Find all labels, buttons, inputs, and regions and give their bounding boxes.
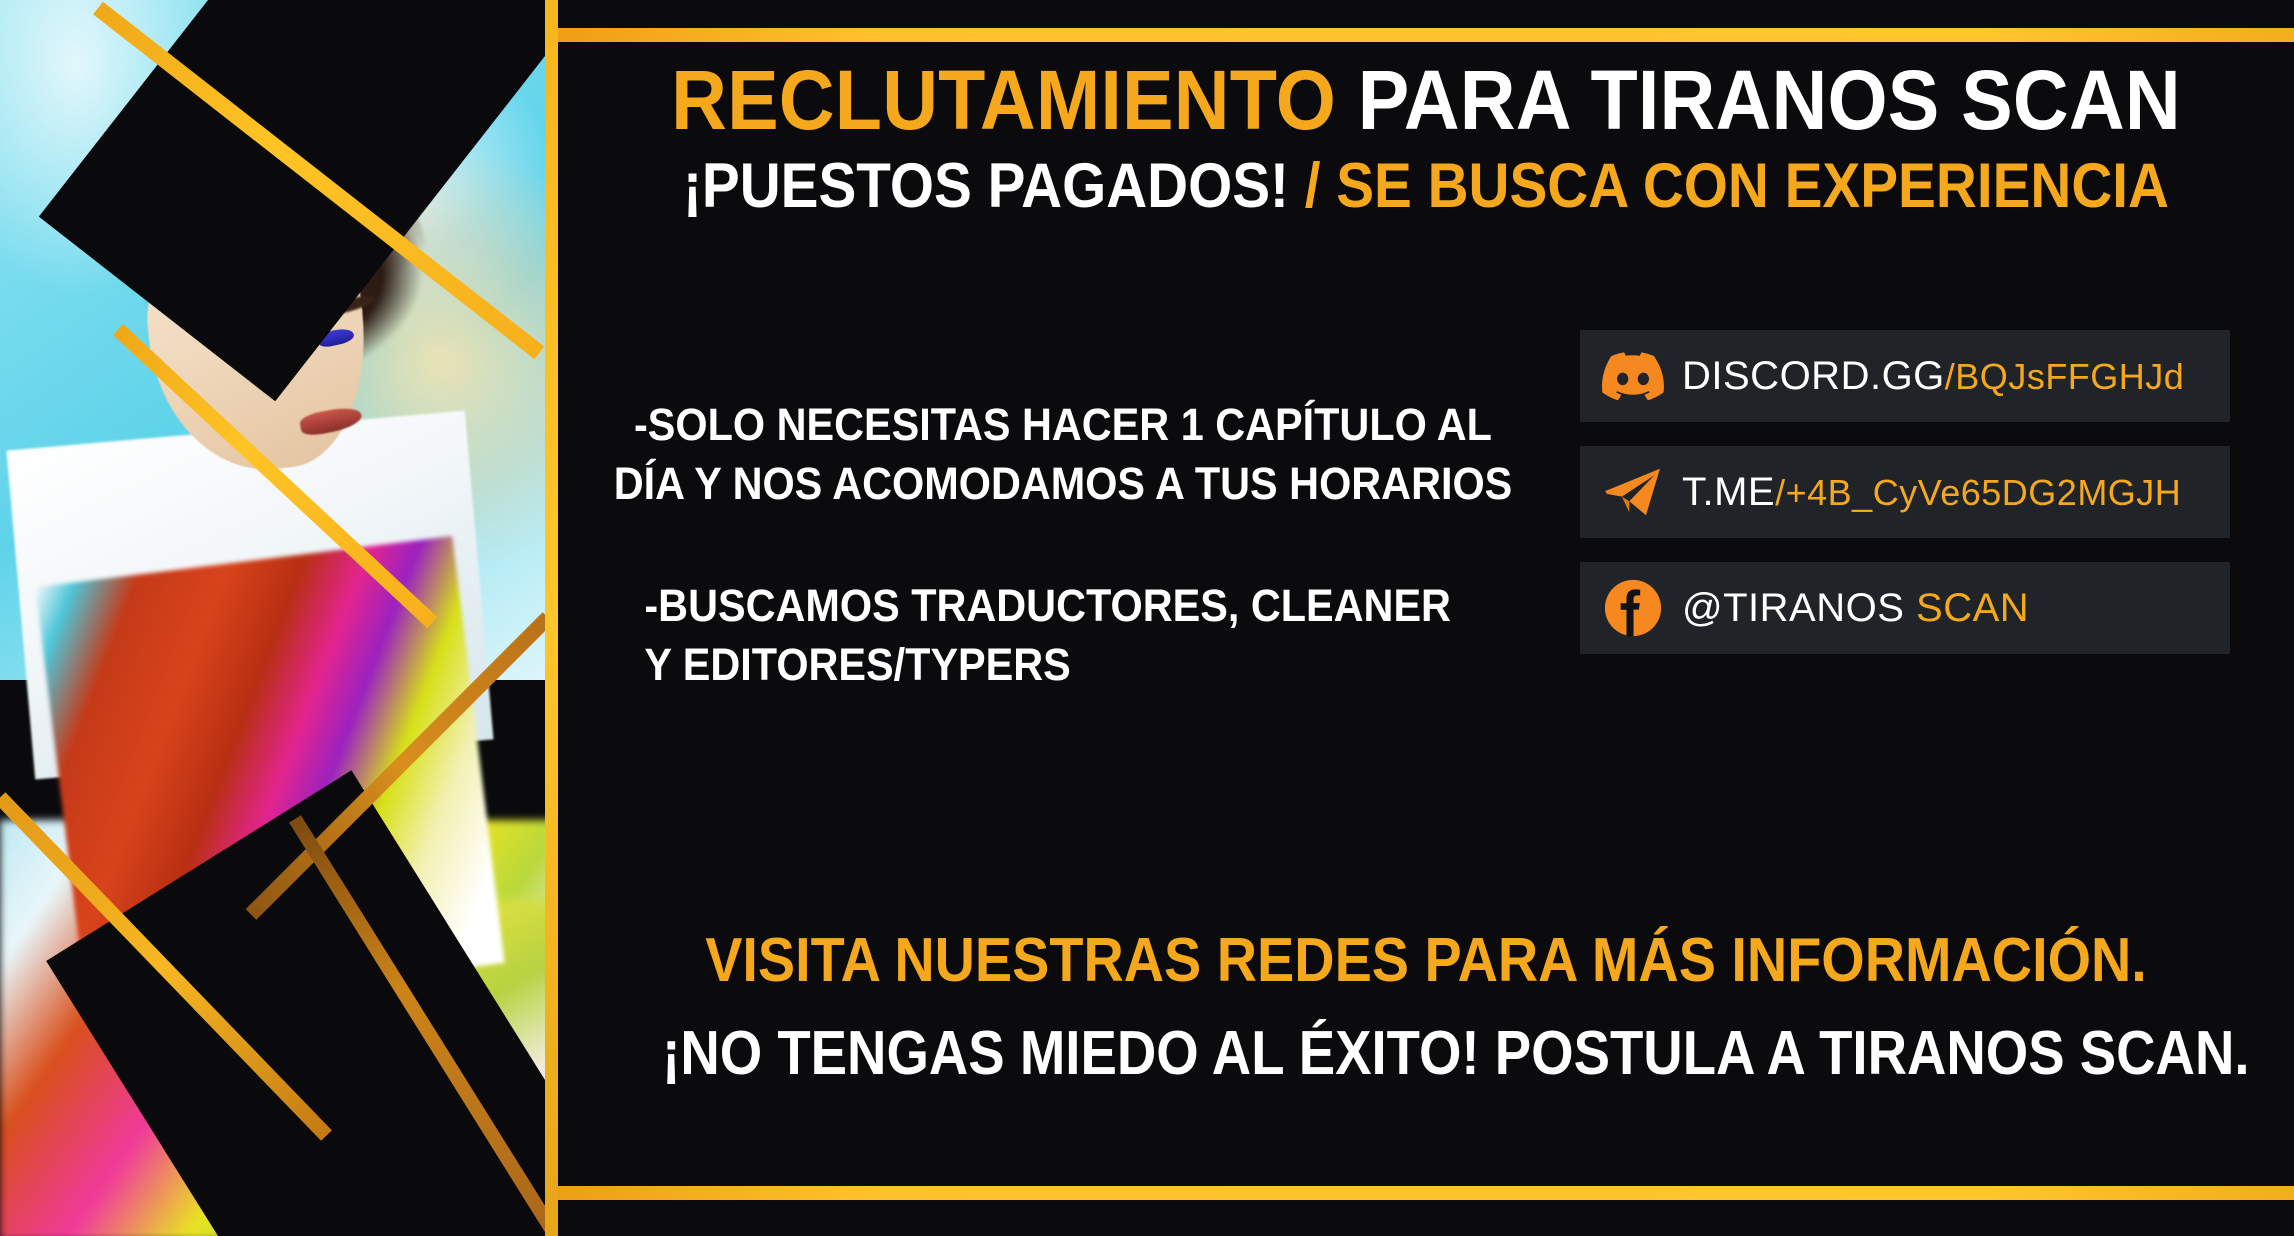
call-to-action-line-2: ¡NO TENGAS MIEDO AL ÉXITO! POSTULA A TIR… (662, 1018, 2190, 1089)
contact-row-telegram[interactable]: T.ME/+4B_CyVe65DG2MGJH (1580, 446, 2230, 538)
gold-vertical-divider (545, 0, 558, 1236)
telegram-invite-code: /+4B_CyVe65DG2MGJH (1775, 472, 2181, 513)
recruitment-banner: RECLUTAMIENTO PARA TIRANOS SCAN ¡PUESTOS… (0, 0, 2294, 1236)
contact-links-list: DISCORD.GG/BQJsFFGHJd T.ME/+4B_CyVe65DG2… (1580, 330, 2230, 678)
requirement-paragraph-2: -BUSCAMOS TRADUCTORES, CLEANER Y EDITORE… (598, 576, 1527, 695)
contact-row-discord[interactable]: DISCORD.GG/BQJsFFGHJd (1580, 330, 2230, 422)
discord-domain: DISCORD.GG (1682, 354, 1945, 398)
headline-white-text: PARA TIRANOS SCAN (1358, 53, 2181, 147)
requirements-text-block: -SOLO NECESITAS HACER 1 CAPÍTULO AL DÍA … (558, 395, 1568, 695)
telegram-icon (1602, 461, 1664, 523)
facebook-handle-suffix: SCAN (1916, 586, 2029, 630)
page-subtitle: ¡PUESTOS PAGADOS! / SE BUSCA CON EXPERIE… (645, 155, 2207, 218)
subheadline-white-text: ¡PUESTOS PAGADOS! (683, 151, 1289, 221)
contact-label-discord: DISCORD.GG/BQJsFFGHJd (1682, 354, 2184, 399)
contact-label-telegram: T.ME/+4B_CyVe65DG2MGJH (1682, 470, 2181, 515)
call-to-action-line-1: VISITA NUESTRAS REDES PARA MÁS INFORMACI… (645, 925, 2207, 996)
subheadline-gold-text: / SE BUSCA CON EXPERIENCIA (1305, 151, 2169, 221)
facebook-icon (1602, 577, 1664, 639)
requirement-2-line-1: -BUSCAMOS TRADUCTORES, CLEANER (598, 576, 1527, 635)
page-title: RECLUTAMIENTO PARA TIRANOS SCAN (627, 58, 2224, 142)
requirement-2-line-2: Y EDITORES/TYPERS (598, 635, 1527, 694)
gold-bar-bottom (558, 1186, 2294, 1200)
requirement-1-line-1: -SOLO NECESITAS HACER 1 CAPÍTULO AL (598, 395, 1527, 454)
contact-label-facebook: @TIRANOS SCAN (1682, 586, 2029, 631)
requirement-paragraph-1: -SOLO NECESITAS HACER 1 CAPÍTULO AL DÍA … (598, 395, 1527, 514)
content-panel: RECLUTAMIENTO PARA TIRANOS SCAN ¡PUESTOS… (558, 0, 2294, 1236)
facebook-handle: @TIRANOS (1682, 586, 1904, 630)
requirement-1-line-2: DÍA Y NOS ACOMODAMOS A TUS HORARIOS (598, 454, 1527, 513)
discord-icon (1602, 345, 1664, 407)
gold-bar-top (558, 28, 2294, 42)
headline-gold-text: RECLUTAMIENTO (671, 53, 1336, 147)
contact-row-facebook[interactable]: @TIRANOS SCAN (1580, 562, 2230, 654)
character-artwork (0, 0, 560, 1236)
discord-invite-code: /BQJsFFGHJd (1945, 356, 2185, 397)
telegram-domain: T.ME (1682, 470, 1775, 514)
